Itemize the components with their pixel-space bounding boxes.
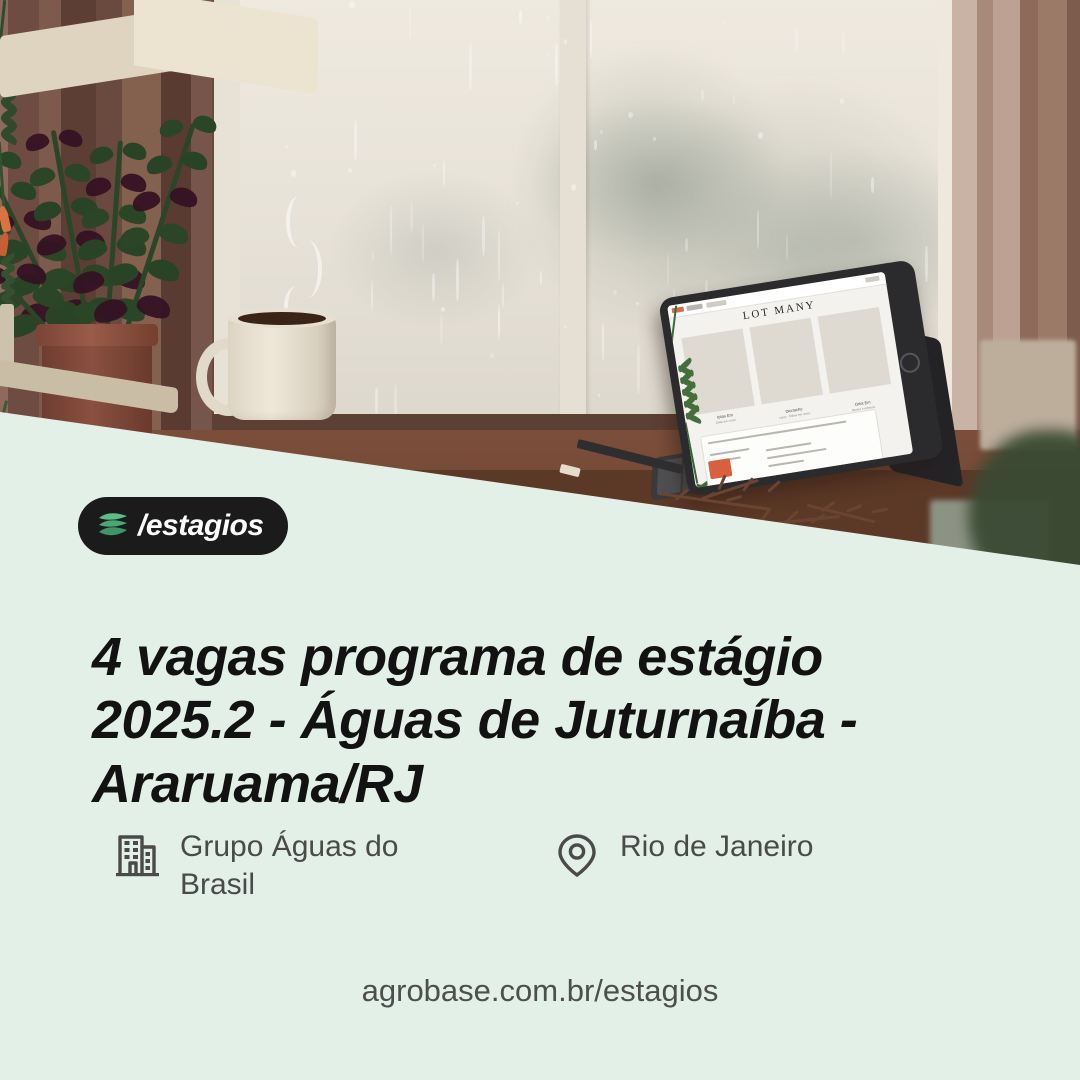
leaf-card-2	[749, 318, 822, 405]
rain-speck	[613, 290, 617, 295]
rain-speck	[653, 137, 656, 141]
stacked-leaves-logo-icon	[96, 511, 130, 541]
raindrop	[871, 177, 874, 193]
window-mullion	[560, 0, 586, 420]
rain-speck	[636, 302, 639, 305]
rain-speck	[600, 130, 603, 134]
rain-speck	[546, 16, 549, 20]
company-meta: Grupo Águas do Brasil	[112, 828, 552, 904]
poster-canvas: LOT MANY Iptas Em Dieta em cores Diurtac…	[0, 0, 1080, 1080]
raindrop	[410, 201, 413, 232]
raindrop	[469, 43, 472, 90]
rain-speck	[285, 145, 288, 149]
raindrop	[440, 314, 443, 345]
raindrop	[482, 216, 485, 256]
raindrop	[443, 159, 445, 187]
plant-pot-rim	[36, 324, 158, 346]
tablet-device: LOT MANY Iptas Em Dieta em cores Diurtac…	[658, 259, 944, 497]
raindrop	[422, 223, 424, 262]
raindrop	[590, 20, 592, 58]
raindrop	[375, 387, 378, 414]
rain-speck	[598, 394, 600, 397]
rain-speck	[547, 53, 549, 56]
mug-coffee-surface	[238, 312, 326, 325]
raindrop	[842, 32, 845, 53]
rain-speck	[441, 307, 445, 312]
raindrop	[637, 345, 640, 394]
raindrop	[498, 230, 500, 281]
rain-speck	[723, 21, 725, 24]
panel-line-4	[766, 442, 812, 451]
brand-logo-label: /estagios	[138, 511, 264, 541]
rain-speck	[564, 325, 567, 329]
toolbar-chip-4	[865, 276, 880, 283]
raindrop	[733, 95, 735, 104]
meta-row: Grupo Águas do Brasil Rio de Janeiro	[112, 828, 972, 904]
raindrop	[667, 254, 669, 285]
rain-speck	[564, 39, 567, 44]
rain-speck	[490, 353, 494, 358]
panel-line-6	[768, 460, 804, 468]
leaf-card-3	[818, 307, 891, 394]
rain-speck	[840, 98, 844, 104]
raindrop	[925, 246, 928, 282]
rain-speck	[348, 168, 352, 173]
raindrop	[602, 323, 604, 361]
raindrop	[456, 259, 459, 301]
side-credit-text: divulgado em: agrobase.com.br/estagios	[1076, 751, 1080, 1080]
building-icon	[112, 830, 162, 880]
rain-speck	[516, 202, 519, 205]
toolbar-chip-2	[686, 304, 703, 311]
page-title: 4 vagas programa de estágio 2025.2 - Águ…	[92, 626, 992, 816]
company-name: Grupo Águas do Brasil	[180, 828, 440, 904]
rain-speck	[349, 1, 355, 8]
tablet-cta-button	[708, 458, 733, 479]
coffee-mug	[228, 316, 336, 420]
tablet-leaf-stem-2	[684, 422, 698, 483]
panel-line-2	[710, 448, 750, 456]
location-name: Rio de Janeiro	[620, 828, 813, 866]
location-meta: Rio de Janeiro	[552, 828, 813, 880]
rain-speck	[758, 132, 763, 139]
rain-speck	[628, 112, 633, 118]
raindrop	[371, 281, 373, 311]
rain-speck	[291, 170, 296, 177]
rain-speck	[433, 164, 436, 167]
footer-url[interactable]: agrobase.com.br/estagios	[0, 973, 1080, 1009]
raindrop	[354, 120, 357, 161]
raindrop	[372, 251, 374, 260]
raindrop	[594, 140, 597, 150]
raindrop	[555, 43, 558, 86]
brand-logo-pill[interactable]: /estagios	[78, 497, 288, 555]
map-pin-icon	[552, 830, 602, 880]
rain-speck	[571, 184, 576, 191]
tablet-home-button	[899, 351, 922, 374]
tablet-screen: LOT MANY Iptas Em Dieta em cores Diurtac…	[667, 272, 913, 488]
toolbar-chip-3	[706, 300, 727, 308]
